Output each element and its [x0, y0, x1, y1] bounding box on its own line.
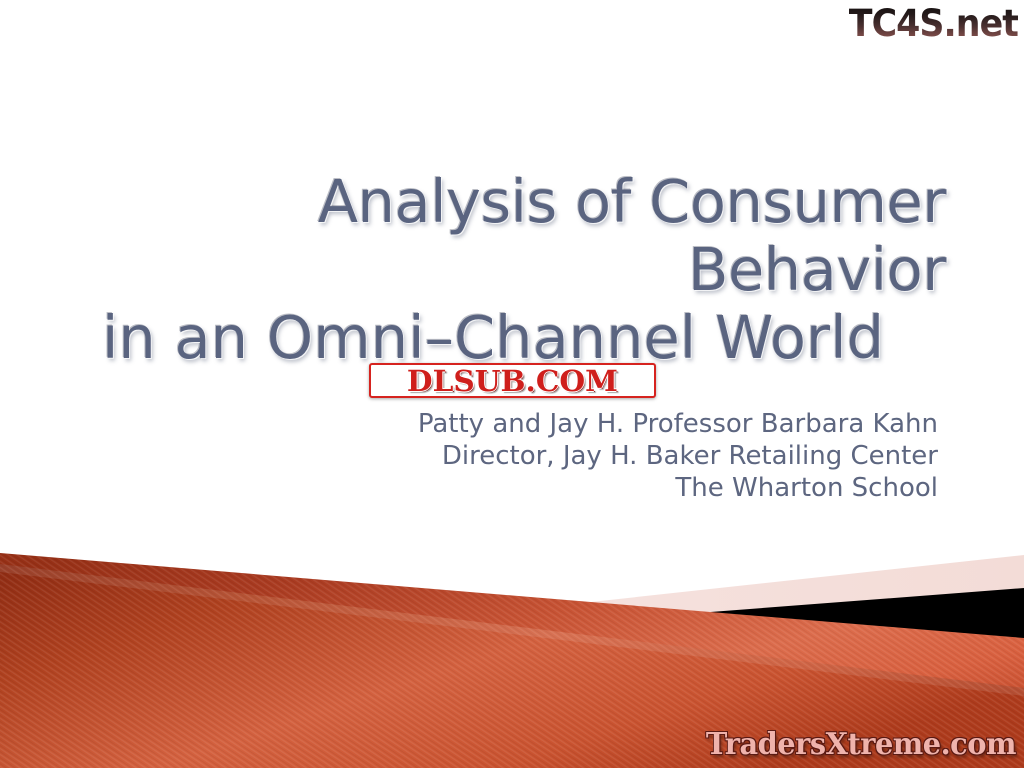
subtitle-line-institution: The Wharton School [40, 472, 938, 504]
title-line-1: Analysis of Consumer [40, 168, 946, 236]
slide-title: Analysis of Consumer Behavior in an Omni… [40, 168, 946, 372]
tc4s-logo-watermark: TC4S.net [849, 2, 1018, 46]
tradersxtreme-watermark: TradersXtreme.com [706, 727, 1016, 763]
presentation-slide: TC4S.net Analysis of Consumer Behavior i… [0, 0, 1024, 768]
subtitle-line-author: Patty and Jay H. Professor Barbara Kahn [40, 408, 938, 440]
title-line-3: in an Omni–Channel World [40, 304, 946, 372]
title-line-2: Behavior [40, 236, 946, 304]
dlsub-watermark: DLSUB.COM [369, 363, 656, 398]
dlsub-watermark-label: DLSUB.COM [407, 366, 618, 396]
slide-subtitle: Patty and Jay H. Professor Barbara Kahn … [40, 408, 938, 504]
subtitle-line-role: Director, Jay H. Baker Retailing Center [40, 440, 938, 472]
